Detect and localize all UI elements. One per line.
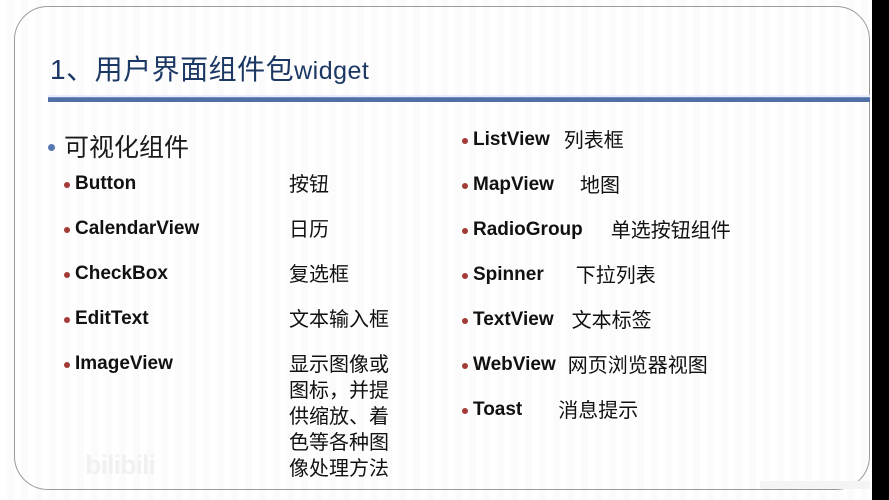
widget-description: 复选框 xyxy=(289,262,399,288)
widget-name: ImageView xyxy=(75,352,289,376)
widget-name: CheckBox xyxy=(75,262,289,286)
page-title: 1、用户界面组件包widget xyxy=(50,48,369,88)
bilibili-watermark: bilibili xyxy=(85,450,155,481)
widget-description: 消息提示 xyxy=(558,398,638,424)
widget-list-item: Toast消息提示 xyxy=(462,398,872,424)
slide-canvas: 1、用户界面组件包widget 可视化组件 Button按钮CalendarVi… xyxy=(0,0,889,500)
widget-description: 下拉列表 xyxy=(576,263,656,289)
section-bullet-label: 可视化组件 xyxy=(64,128,189,164)
right-edge-band xyxy=(872,0,889,500)
widget-list-item: ListView列表框 xyxy=(462,128,872,154)
title-cjk: 用户界面组件包 xyxy=(95,54,295,85)
widget-list-item: RadioGroup单选按钮组件 xyxy=(462,218,872,244)
widget-list-right: ListView列表框MapView地图RadioGroup单选按钮组件Spin… xyxy=(462,128,872,443)
title-latin: widget xyxy=(294,57,369,85)
bullet-dot-icon xyxy=(462,273,468,279)
widget-description: 文本输入框 xyxy=(289,307,399,333)
bullet-dot-icon xyxy=(462,318,468,324)
bullet-dot-icon xyxy=(64,317,70,323)
widget-name: Button xyxy=(75,172,289,196)
bullet-dot-icon xyxy=(462,138,468,144)
bullet-dot-icon xyxy=(462,228,468,234)
widget-list-item: WebView网页浏览器视图 xyxy=(462,353,872,379)
title-number: 1、 xyxy=(50,54,95,85)
widget-list-item: MapView地图 xyxy=(462,173,872,199)
section-bullet-visual-components: 可视化组件 xyxy=(48,128,189,164)
widget-name: TextView xyxy=(473,308,554,332)
bullet-dot-icon xyxy=(462,183,468,189)
widget-list-item: CheckBox复选框 xyxy=(64,262,454,288)
bullet-dot-icon xyxy=(64,182,70,188)
bullet-dot-icon xyxy=(48,144,55,151)
widget-name: Toast xyxy=(473,398,522,422)
bullet-dot-icon xyxy=(462,408,468,414)
widget-description: 单选按钮组件 xyxy=(611,218,731,244)
widget-description: 地图 xyxy=(580,173,620,199)
widget-name: MapView xyxy=(473,173,554,197)
widget-description: 列表框 xyxy=(564,128,624,154)
corner-watermark xyxy=(760,481,870,489)
title-divider-rule xyxy=(48,97,870,102)
widget-description: 日历 xyxy=(289,217,399,243)
bullet-dot-icon xyxy=(462,363,468,369)
widget-list-item: EditText文本输入框 xyxy=(64,307,454,333)
widget-name: Spinner xyxy=(473,263,544,287)
widget-name: CalendarView xyxy=(75,217,289,241)
widget-description: 按钮 xyxy=(289,172,399,198)
widget-name: WebView xyxy=(473,353,556,377)
widget-list-item: TextView文本标签 xyxy=(462,308,872,334)
widget-list-item: Button按钮 xyxy=(64,172,454,198)
widget-list-item: Spinner下拉列表 xyxy=(462,263,872,289)
bullet-dot-icon xyxy=(64,272,70,278)
widget-description: 文本标签 xyxy=(572,308,652,334)
widget-list-item: CalendarView日历 xyxy=(64,217,454,243)
widget-name: ListView xyxy=(473,128,550,152)
widget-name: EditText xyxy=(75,307,289,331)
widget-name: RadioGroup xyxy=(473,218,583,242)
bullet-dot-icon xyxy=(64,227,70,233)
widget-description: 显示图像或图标，并提供缩放、着色等各种图像处理方法 xyxy=(289,352,399,482)
bullet-dot-icon xyxy=(64,362,70,368)
widget-description: 网页浏览器视图 xyxy=(568,353,708,379)
